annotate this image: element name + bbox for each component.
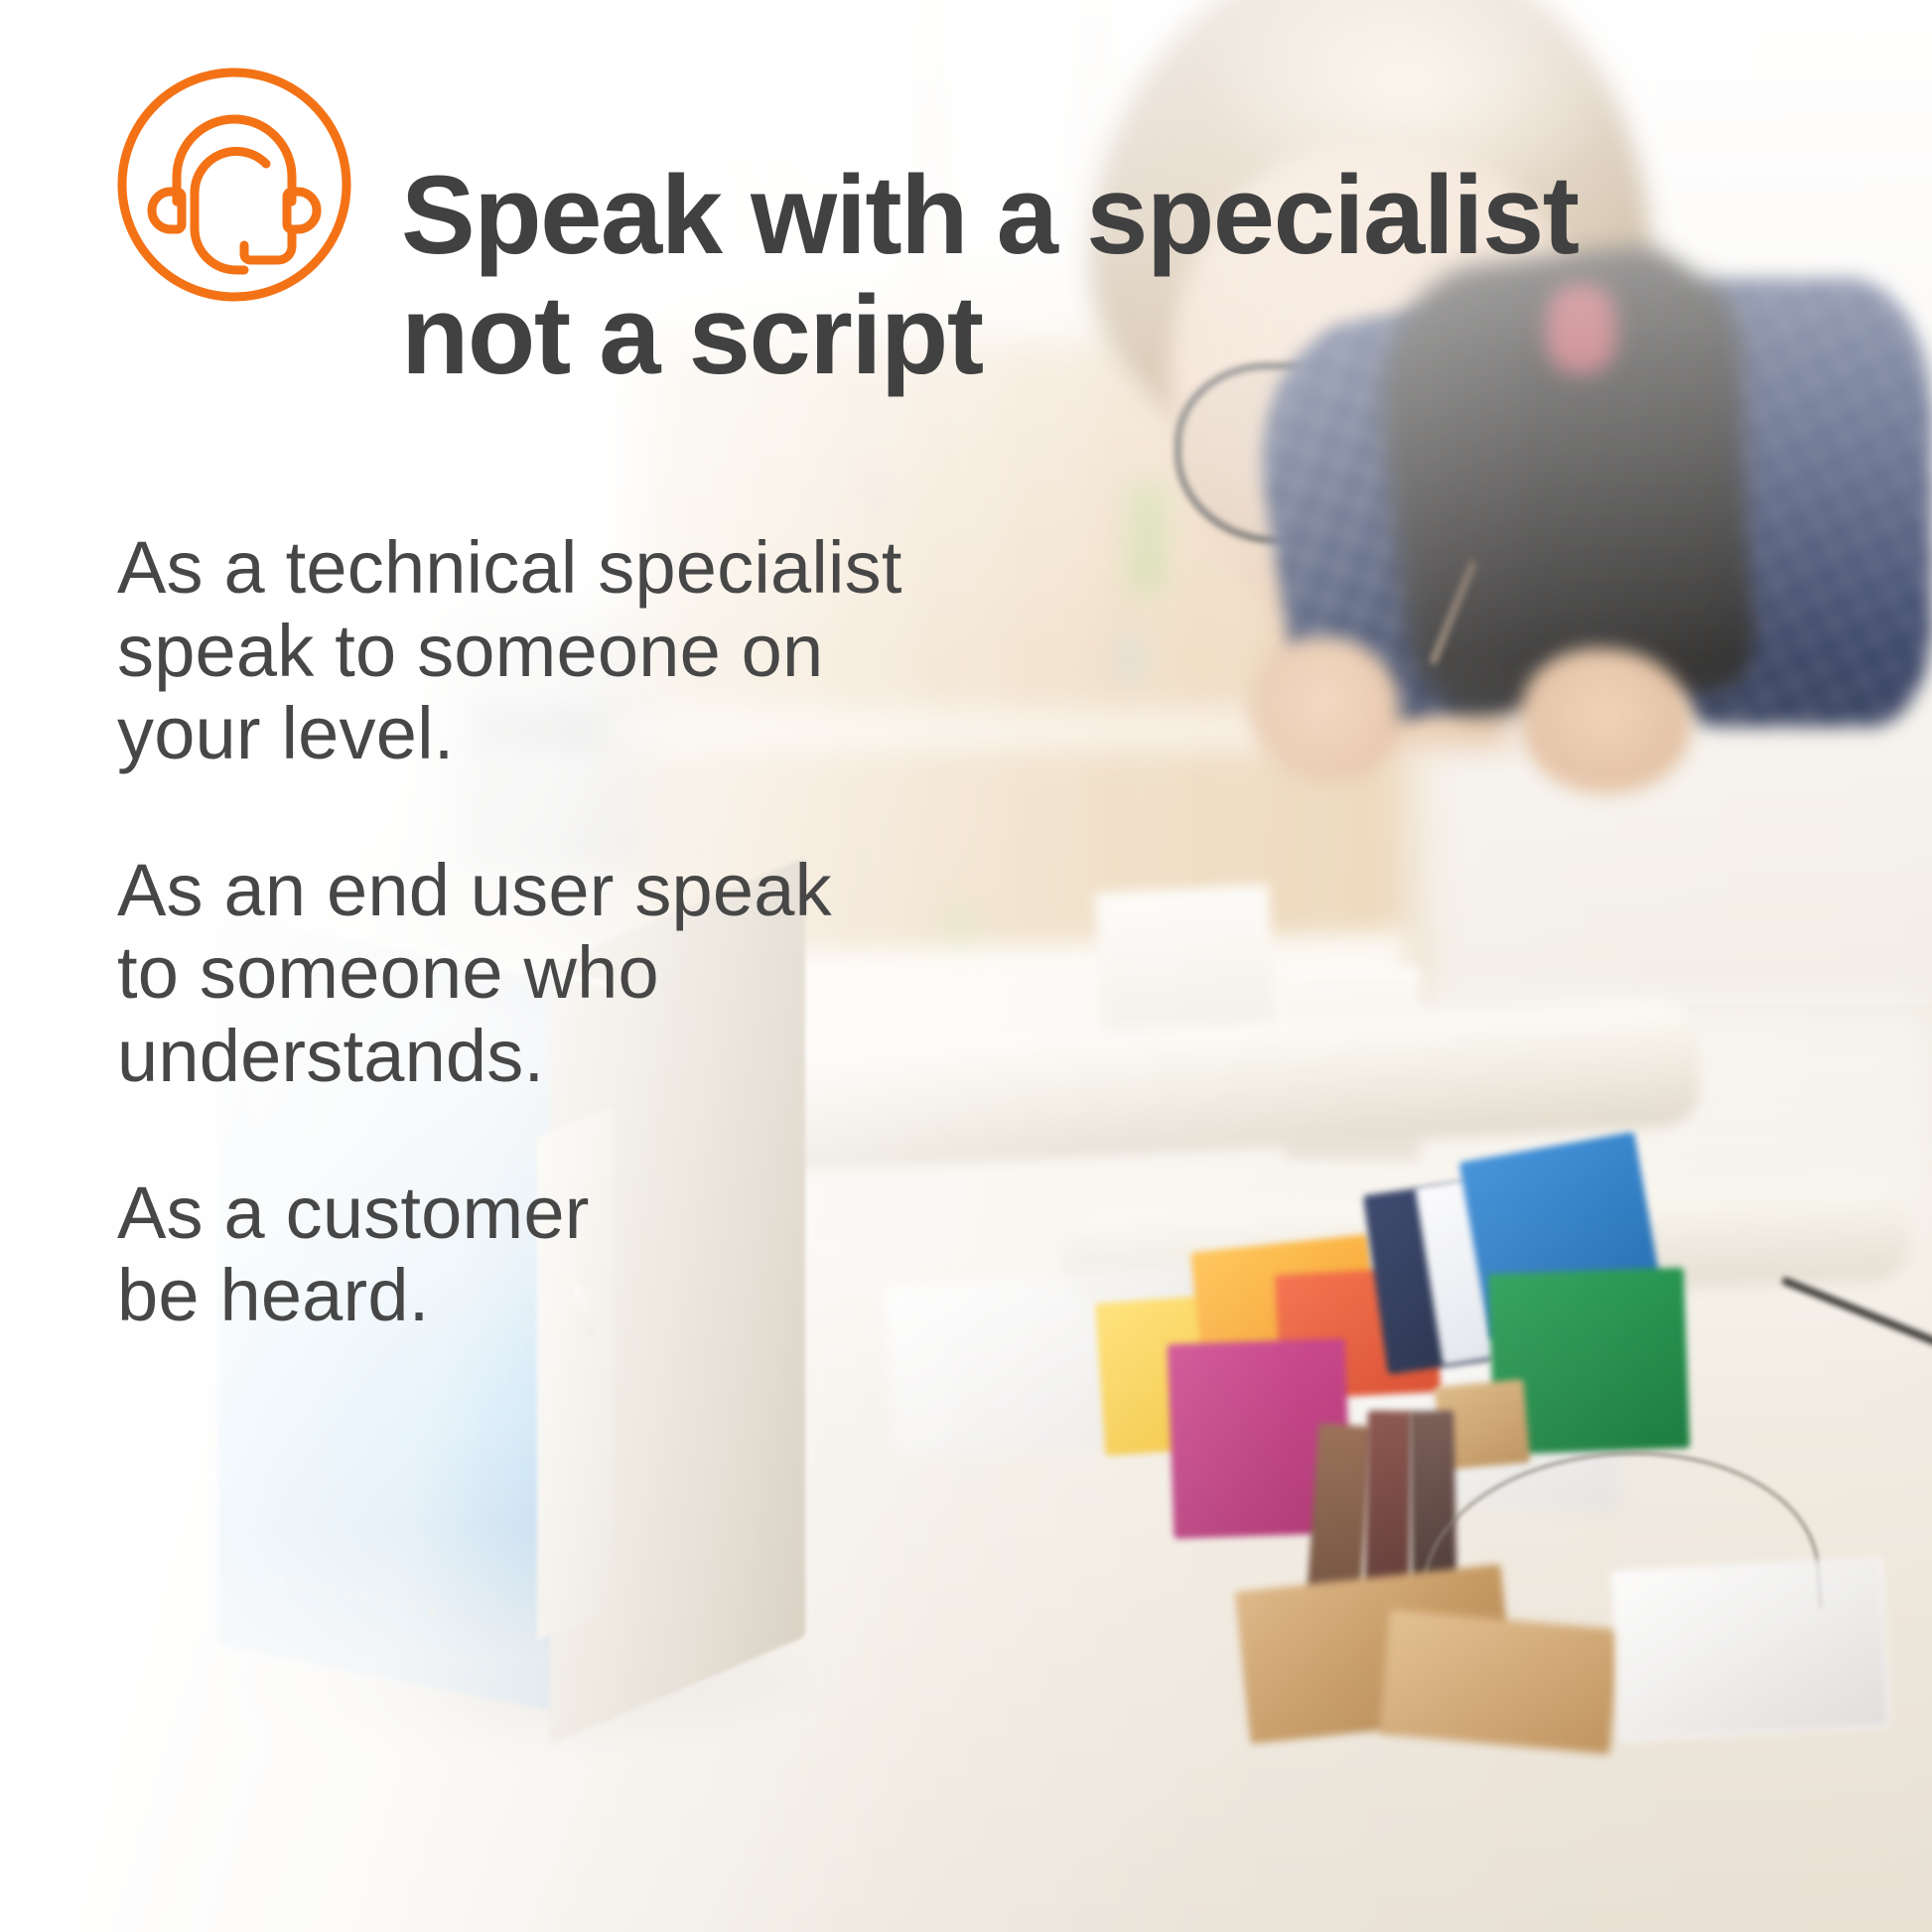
paragraph-line: your level. [117,692,971,775]
paragraph-line: As an end user speak [117,849,971,932]
headline-line-1: Speak with a specialist [401,153,1579,277]
paragraph-line: to someone who [117,931,971,1015]
paragraph-line: understands. [117,1015,971,1098]
promo-card: Speak with a specialist not a script As … [0,0,1932,1932]
paragraph-line: speak to someone on [117,610,971,693]
page-title: Speak with a specialist not a script [401,156,1851,396]
headline-line-2: not a script [401,276,1851,396]
content-layer: Speak with a specialist not a script As … [0,0,1932,1932]
headset-support-icon [115,66,353,304]
paragraph-line: be heard. [117,1254,971,1337]
paragraph-technical-specialist: As a technical specialist speak to someo… [117,526,971,775]
paragraph-line: As a technical specialist [117,526,971,610]
paragraph-end-user: As an end user speak to someone who unde… [117,849,971,1098]
paragraph-line: As a customer [117,1172,971,1255]
paragraph-customer: As a customer be heard. [117,1172,971,1337]
body-copy: As a technical specialist speak to someo… [117,526,971,1337]
